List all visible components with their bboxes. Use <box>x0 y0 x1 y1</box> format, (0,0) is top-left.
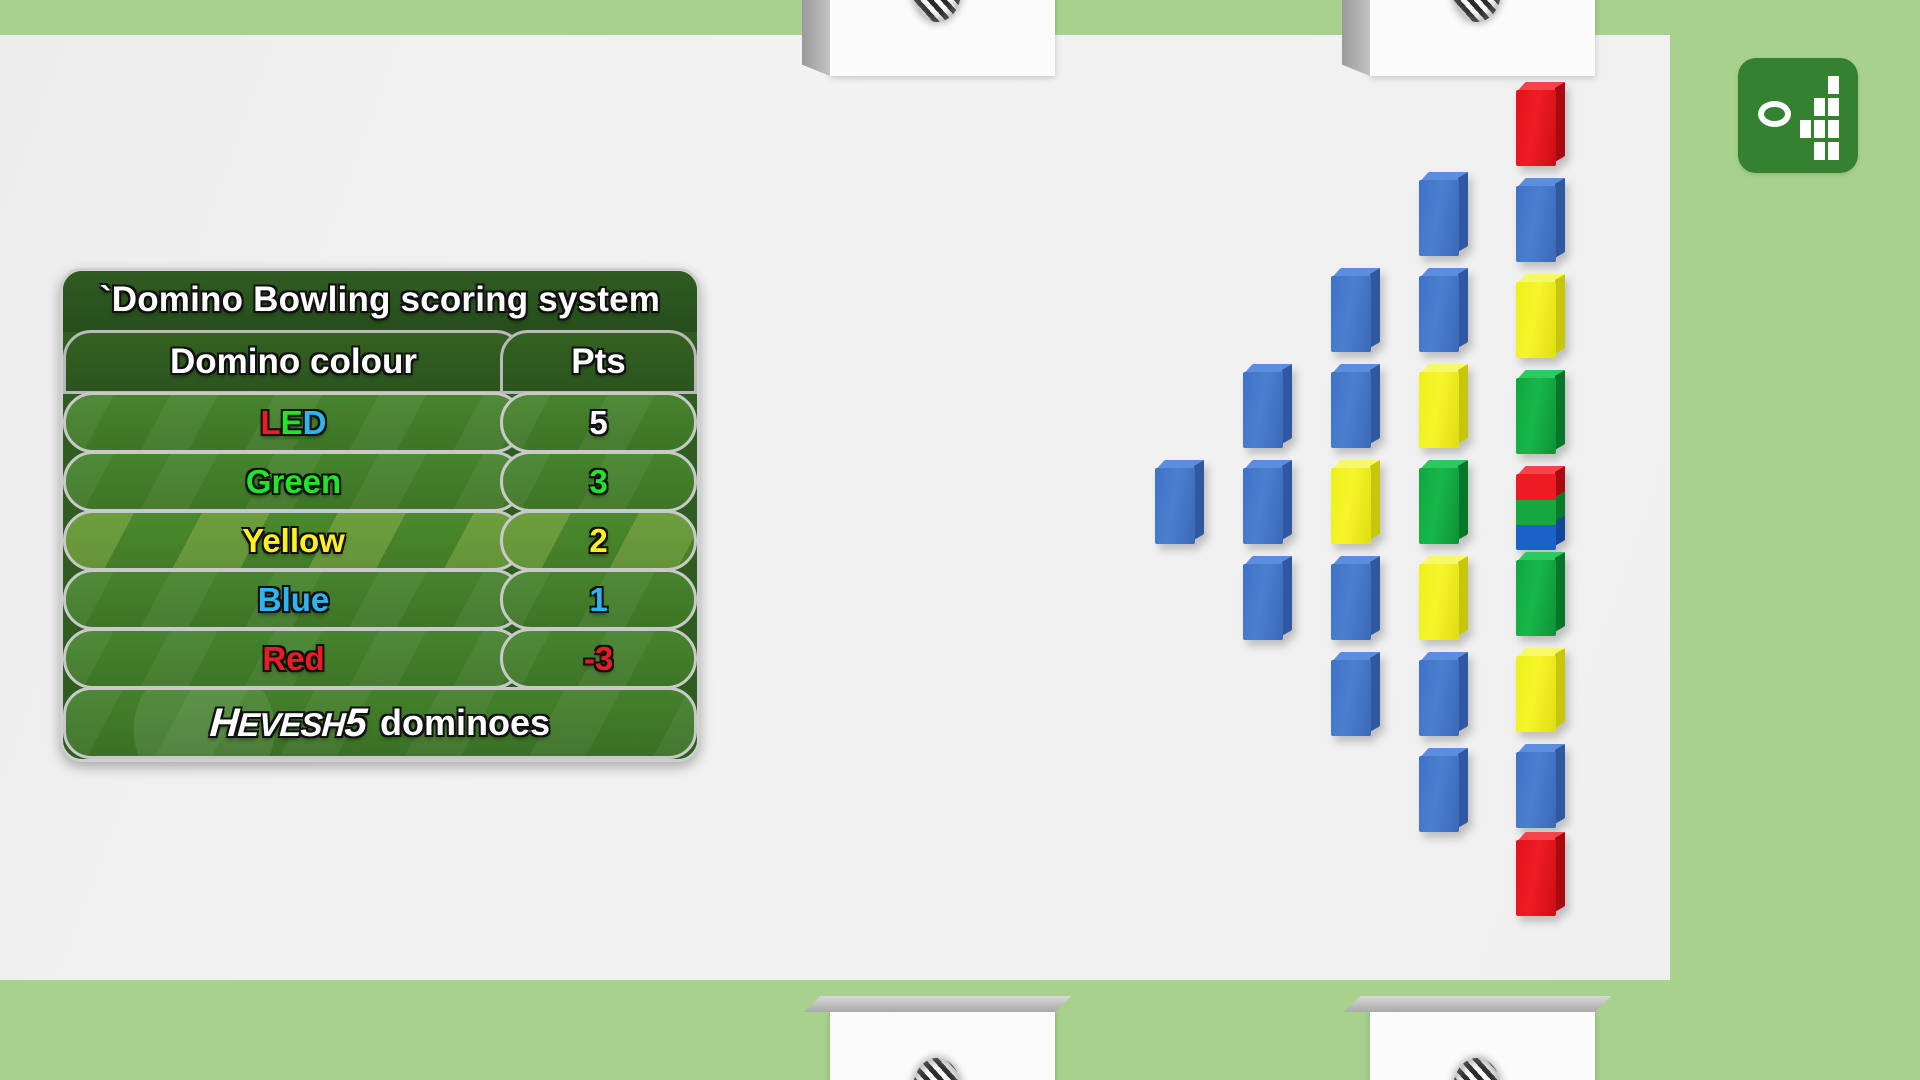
cell-points: 1 <box>500 569 697 630</box>
domino-blue <box>1155 460 1195 536</box>
domino-front-face <box>1331 468 1371 544</box>
domino-side-face <box>1555 744 1565 824</box>
domino-side-face <box>1458 556 1468 636</box>
table-row: Yellow2 <box>63 510 697 571</box>
cell-domino-colour: Blue <box>63 569 524 630</box>
colour-label: Blue <box>258 581 330 619</box>
domino-side-face <box>1555 466 1565 546</box>
badge-pip-icon <box>1828 120 1839 138</box>
domino-front-face <box>1419 372 1459 448</box>
screw-icon <box>913 0 961 22</box>
cell-points: 2 <box>500 510 697 571</box>
domino-side-face <box>1370 556 1380 636</box>
table-row: Green3 <box>63 451 697 512</box>
colour-label: Red <box>262 640 324 678</box>
table-row: Blue1 <box>63 569 697 630</box>
domino-front-face <box>1516 378 1556 454</box>
domino-blue <box>1331 268 1371 344</box>
screw-icon <box>1453 1058 1501 1080</box>
domino-front-face <box>1419 180 1459 256</box>
domino-blue <box>1419 268 1459 344</box>
domino-side-face <box>1458 364 1468 444</box>
domino-blue <box>1331 364 1371 440</box>
brand-part: H <box>208 701 239 745</box>
domino-yellow <box>1419 556 1459 632</box>
domino-green <box>1516 370 1556 446</box>
domino-side-face <box>1458 172 1468 252</box>
badge-pip-icon <box>1828 98 1839 116</box>
led-letter: E <box>281 404 303 442</box>
domino-side-face <box>1458 460 1468 540</box>
domino-front-face <box>1516 752 1556 828</box>
domino-side-face <box>1370 460 1380 540</box>
domino-blue <box>1419 652 1459 728</box>
domino-green <box>1516 552 1556 628</box>
cell-points: 5 <box>500 392 697 453</box>
domino-front-face <box>1331 276 1371 352</box>
led-letter: L <box>260 404 280 442</box>
domino-yellow <box>1516 648 1556 724</box>
domino-side-face <box>1458 748 1468 828</box>
header-pts: Pts <box>500 330 697 394</box>
domino-side-face <box>1370 652 1380 732</box>
colour-label: Green <box>246 463 341 501</box>
bumper-side-panel <box>1342 0 1370 76</box>
domino-blue <box>1419 172 1459 248</box>
domino-red <box>1516 832 1556 908</box>
domino-side-face <box>1555 832 1565 912</box>
screw-icon <box>913 1058 961 1080</box>
domino-side-face <box>1282 460 1292 540</box>
cell-domino-colour: Green <box>63 451 524 512</box>
domino-yellow <box>1516 274 1556 350</box>
badge-pip-icon <box>1814 120 1825 138</box>
domino-side-face <box>1282 364 1292 444</box>
domino-green <box>1419 460 1459 536</box>
domino-side-face <box>1555 274 1565 354</box>
domino-front-face <box>1516 474 1556 550</box>
domino-front-face <box>1243 468 1283 544</box>
table-footer-brand-row: HEVESH5 dominoes <box>63 687 697 759</box>
domino-front-face <box>1516 186 1556 262</box>
domino-side-face <box>1555 648 1565 728</box>
domino-yellow <box>1419 364 1459 440</box>
badge-pip-icon <box>1814 142 1825 160</box>
cell-domino-colour: LED <box>63 392 524 453</box>
domino-front-face <box>1516 840 1556 916</box>
domino-side-face <box>1555 82 1565 162</box>
bumper-top-cap <box>1344 996 1612 1012</box>
cell-domino-colour: Yellow <box>63 510 524 571</box>
bumper-top-left <box>830 0 1055 76</box>
domino-side-face <box>1555 370 1565 450</box>
domino-yellow <box>1331 460 1371 536</box>
badge-pip-icon <box>1800 120 1811 138</box>
domino-blue <box>1516 178 1556 254</box>
badge-pip-icon <box>1814 98 1825 116</box>
scoring-table: `Domino Bowling scoring system Domino co… <box>60 268 700 762</box>
cell-domino-colour: Red <box>63 628 524 689</box>
domino-blue <box>1331 556 1371 632</box>
domino-front-face <box>1419 468 1459 544</box>
table-row: LED5 <box>63 392 697 453</box>
domino-blue <box>1516 744 1556 820</box>
domino-side-face <box>1370 268 1380 348</box>
domino-front-face <box>1516 282 1556 358</box>
domino-front-face <box>1243 564 1283 640</box>
domino-front-face <box>1331 564 1371 640</box>
brand-part: EVESH <box>237 706 346 743</box>
domino-blue <box>1331 652 1371 728</box>
domino-front-face <box>1516 90 1556 166</box>
domino-blue <box>1419 748 1459 824</box>
table-body: LED5Green3Yellow2Blue1Red-3 <box>63 392 697 689</box>
bumper-side-panel <box>802 0 830 76</box>
screw-icon <box>1453 0 1501 22</box>
domino-front-face <box>1331 660 1371 736</box>
hevesh5-wordmark: HEVESH5 <box>208 701 367 746</box>
domino-front-face <box>1155 468 1195 544</box>
domino-front-face <box>1419 660 1459 736</box>
domino-side-face <box>1555 552 1565 632</box>
domino-side-face <box>1555 178 1565 258</box>
domino-front-face <box>1331 372 1371 448</box>
bumper-bottom-left <box>830 1010 1055 1080</box>
dominoes-label: dominoes <box>380 702 550 744</box>
domino-red <box>1516 82 1556 158</box>
domino-front-face <box>1516 560 1556 636</box>
domino-side-face <box>1458 268 1468 348</box>
domino-blue <box>1243 364 1283 440</box>
domino-front-face <box>1243 372 1283 448</box>
domino-side-face <box>1282 556 1292 636</box>
scoring-table-title: `Domino Bowling scoring system <box>63 271 697 332</box>
bumper-top-cap <box>804 996 1072 1012</box>
domino-front-face <box>1419 564 1459 640</box>
bumper-bottom-right <box>1370 1010 1595 1080</box>
table-header-row: Domino colour Pts <box>63 330 697 394</box>
cell-points: -3 <box>500 628 697 689</box>
colour-label: Yellow <box>242 522 345 560</box>
badge-pip-icon <box>1828 76 1839 94</box>
bumper-top-right <box>1370 0 1595 76</box>
domino-front-face <box>1419 756 1459 832</box>
domino-blue <box>1243 556 1283 632</box>
domino-side-face <box>1194 460 1204 540</box>
led-letter: D <box>303 404 327 442</box>
domino-led <box>1516 466 1556 542</box>
hevesh5-badge-icon <box>1738 58 1858 173</box>
domino-front-face <box>1419 276 1459 352</box>
domino-blue <box>1243 460 1283 536</box>
brand-part: 5 <box>343 701 367 745</box>
domino-front-face <box>1516 656 1556 732</box>
cell-points: 3 <box>500 451 697 512</box>
header-domino-colour: Domino colour <box>63 330 524 394</box>
badge-ring-icon <box>1758 101 1791 127</box>
badge-pip-icon <box>1828 142 1839 160</box>
domino-side-face <box>1370 364 1380 444</box>
domino-side-face <box>1458 652 1468 732</box>
table-row: Red-3 <box>63 628 697 689</box>
